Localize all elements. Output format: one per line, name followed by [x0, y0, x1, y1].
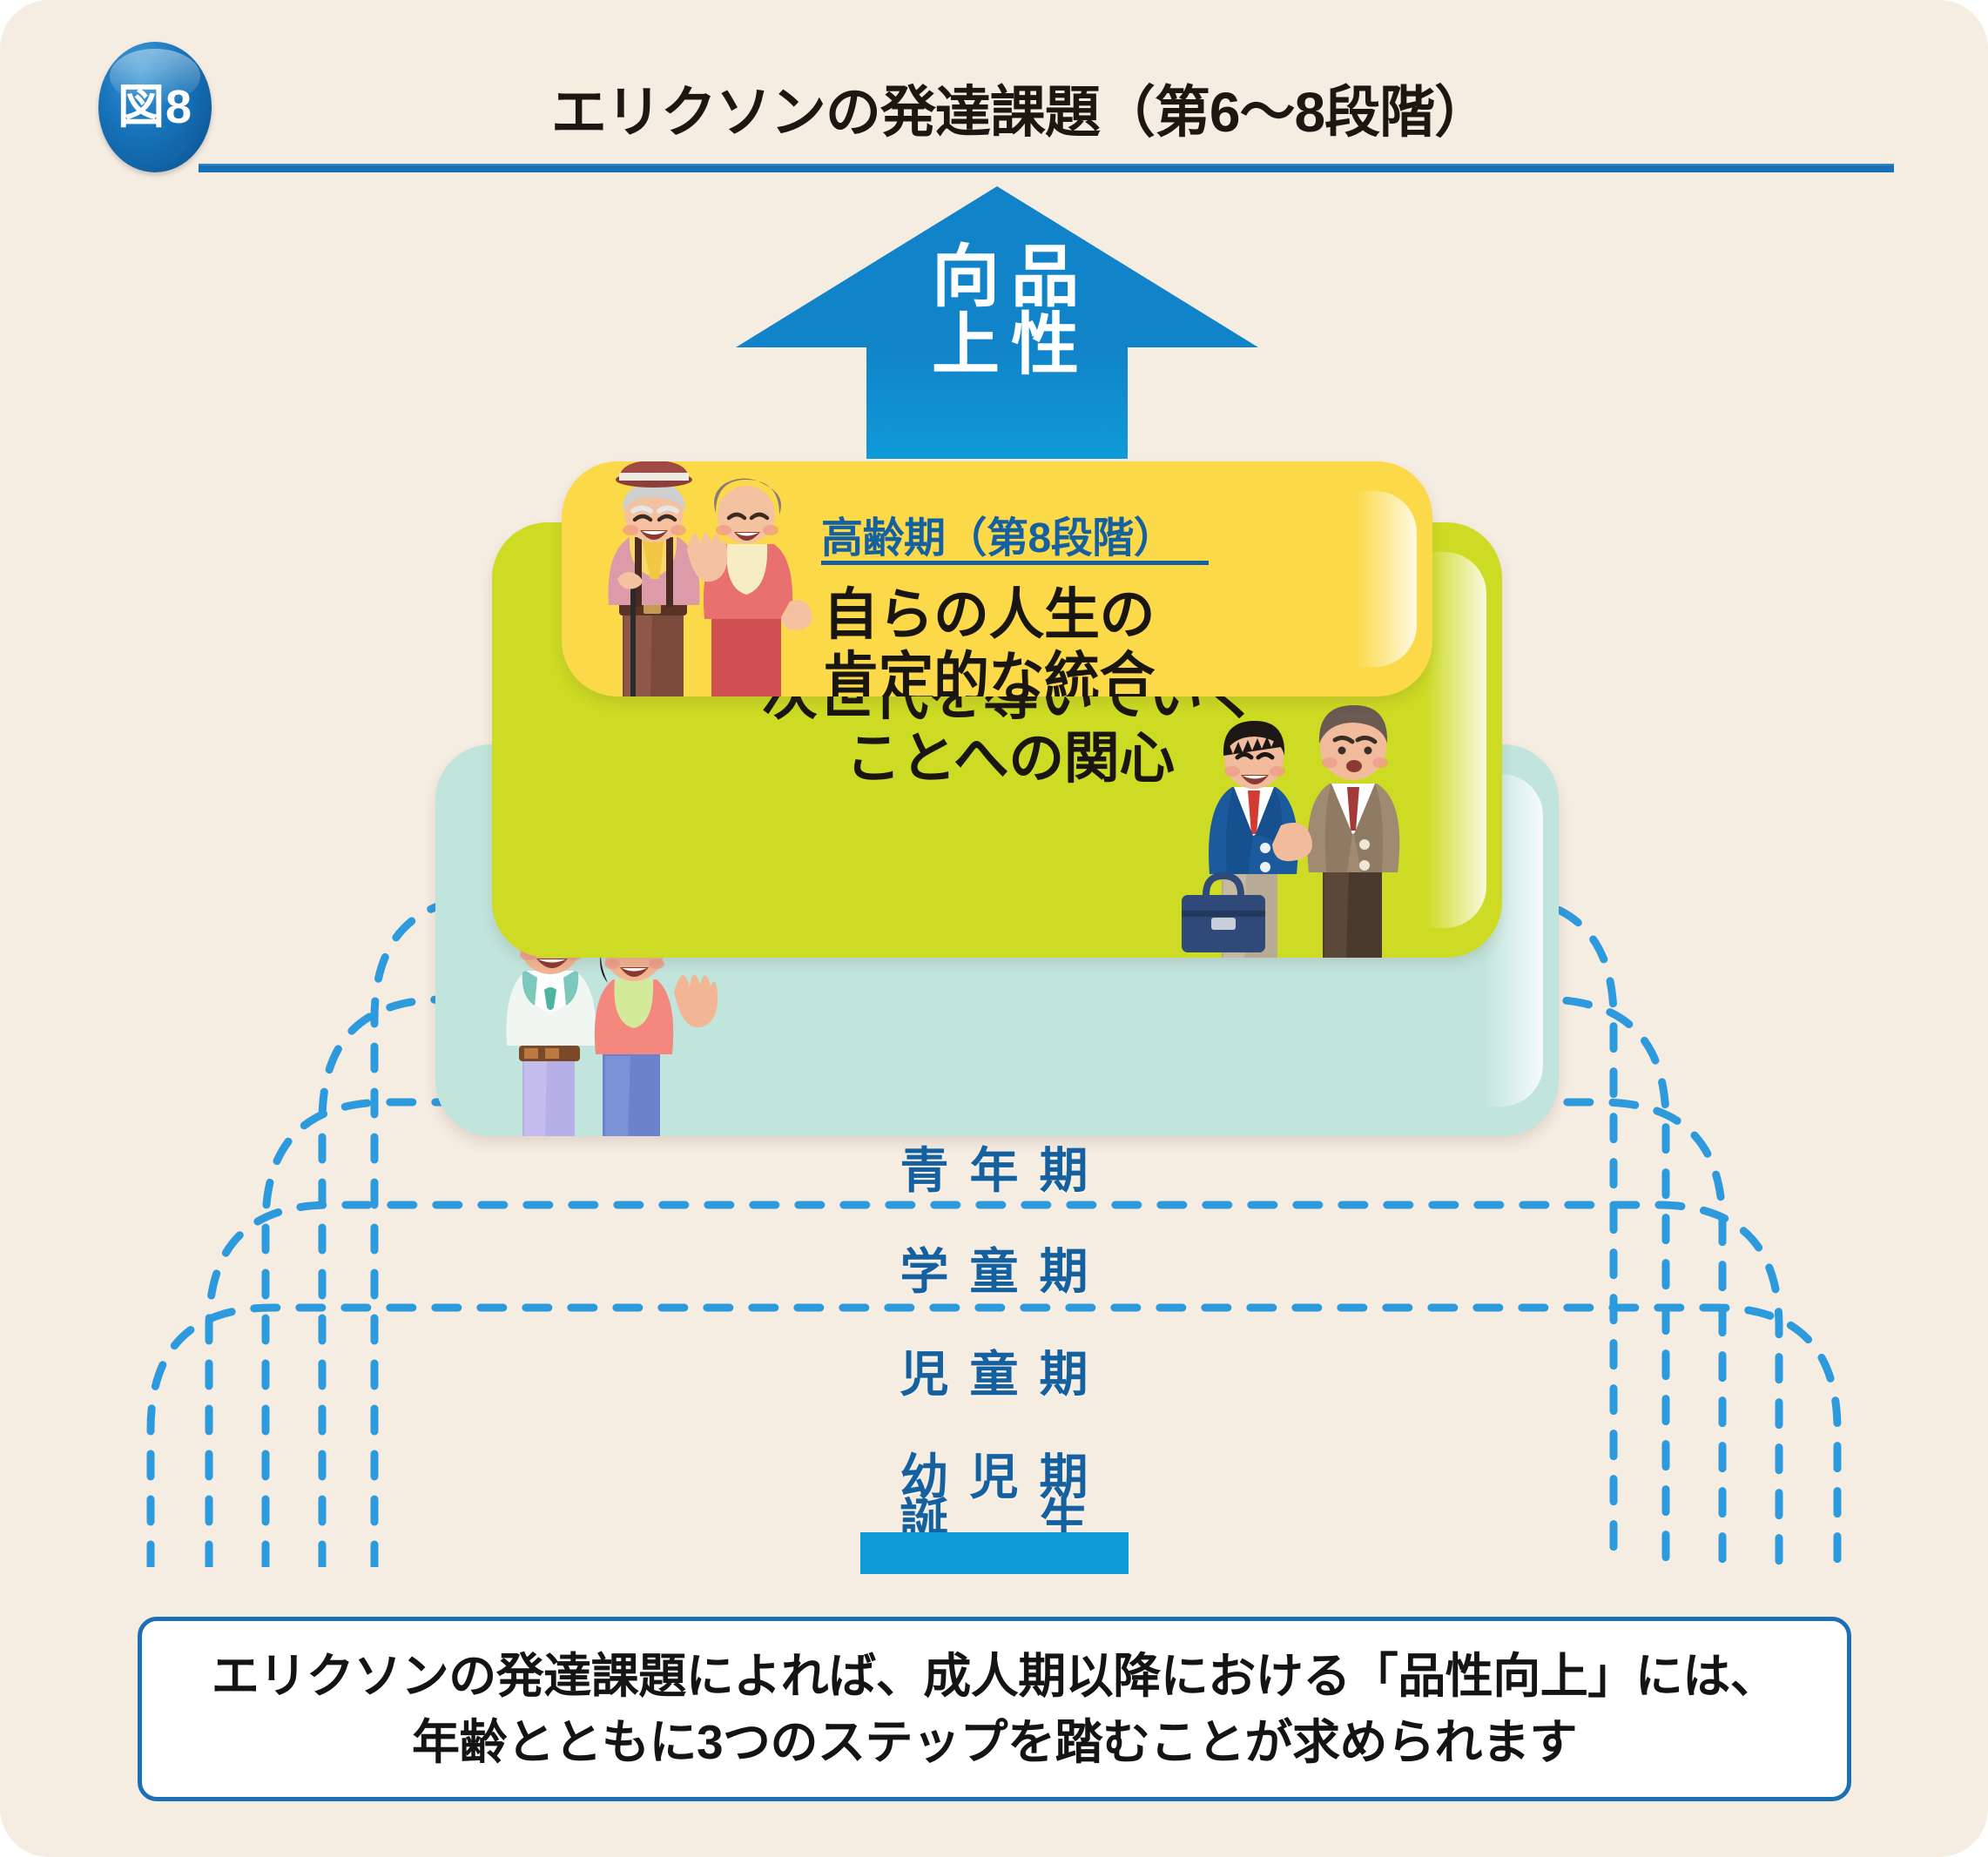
stage-card-stage8-text-line2: 肯定的な統合: [823, 647, 1155, 696]
figure-canvas: 図8 エリクソンの発達課題（第6〜8段階） 品性 向上: [0, 0, 1988, 1857]
figure-number-label: 図8: [118, 84, 192, 131]
earlier-stage-label-schoolage: 学童期: [0, 1233, 1988, 1303]
improvement-arrow: 品性 向上: [736, 186, 1258, 456]
earlier-stage-label-youth: 青年期: [0, 1132, 1988, 1202]
arrow-label-group: 品性 向上: [895, 240, 1104, 449]
earlier-stage-label-childhood: 児童期: [0, 1336, 1988, 1406]
stage-card-stage8-label: 高齢期（第8段階）: [821, 503, 1175, 564]
elderly-couple-illustration: [581, 461, 816, 696]
arrow-label-left: 向上: [925, 240, 995, 449]
arrow-label-right: 品性: [1004, 240, 1075, 449]
stage-card-stage8-underline: [821, 561, 1209, 565]
stage-card-stage7-text-line2: ことへの関心: [762, 727, 1258, 791]
caption-box: エリクソンの発達課題によれば、成人期以降における「品性向上」には、 年齢とともに…: [138, 1617, 1851, 1801]
stage-card-stage8-text: 自らの人生の 肯定的な統合: [823, 583, 1155, 696]
caption-line-1: エリクソンの発達課題によれば、成人期以降における「品性向上」には、: [212, 1650, 1778, 1703]
page-title: エリクソンの発達課題（第6〜8段階）: [0, 68, 1988, 148]
title-divider: [199, 164, 1894, 172]
caption-line-2: 年齢とともに3つのステップを踏むことが求められます: [412, 1716, 1577, 1769]
stage-card-stage8-text-line1: 自らの人生の: [823, 583, 1155, 647]
stage-card-stage8[interactable]: 高齢期（第8段階） 自らの人生の 肯定的な統合: [562, 461, 1432, 696]
figure-header: 図8 エリクソンの発達課題（第6〜8段階）: [0, 0, 1988, 183]
stage-card-stage8-inner: 高齢期（第8段階） 自らの人生の 肯定的な統合: [562, 461, 1432, 696]
birth-base-bar: [860, 1532, 1129, 1574]
